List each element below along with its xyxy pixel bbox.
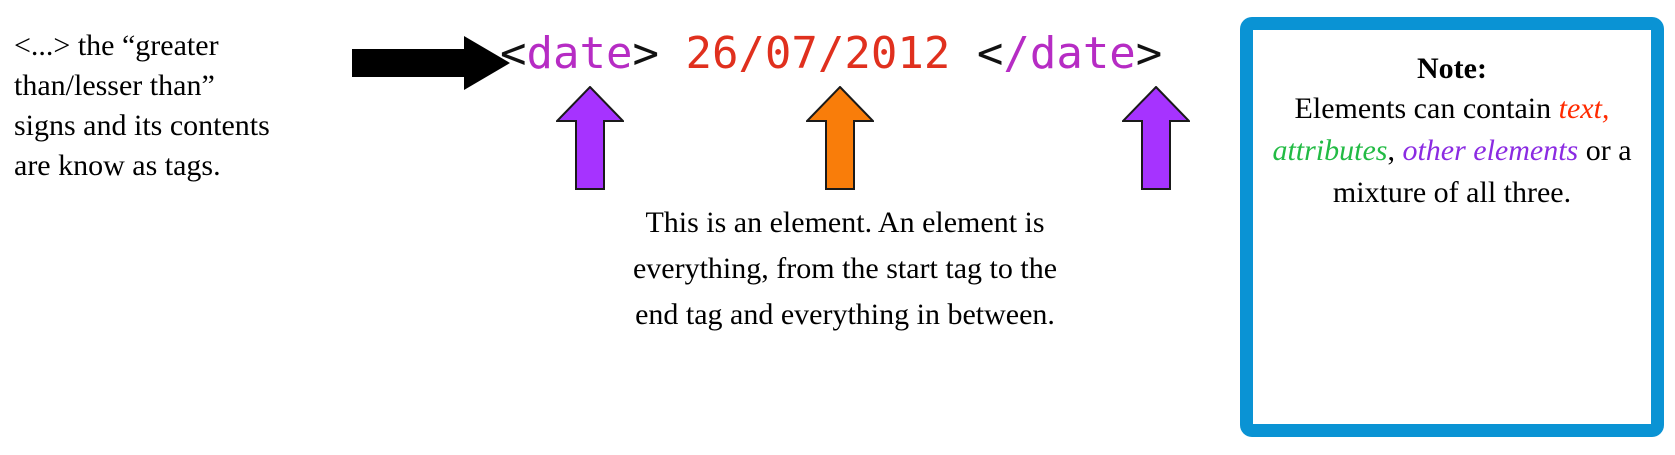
right-arrow-svg — [352, 36, 510, 90]
open-tag-name: date — [527, 28, 633, 79]
element-value: 26/07/2012 — [685, 28, 950, 79]
up-arrow-icon — [556, 86, 624, 190]
note-body: Elements can contain text, attributes, o… — [1257, 88, 1647, 214]
note-elements-keyword: other elements — [1402, 134, 1578, 167]
value-arrow — [806, 86, 874, 190]
open-bracket-left: < — [500, 28, 527, 79]
note-text-keyword: text, — [1559, 92, 1610, 125]
note-attributes-keyword: attributes — [1272, 134, 1387, 167]
close-bracket-right: > — [1136, 28, 1163, 79]
start-tag-arrow — [556, 86, 624, 190]
note-inner-panel: Note: Elements can contain text, attribu… — [1253, 30, 1651, 424]
slide-canvas: <...> the “greater than/lesser than” sig… — [0, 0, 1675, 455]
close-bracket-left: < — [950, 28, 1003, 79]
element-caption-text: This is an element. An element is everyt… — [505, 200, 1185, 338]
note-title: Note: — [1417, 50, 1487, 88]
up-arrow-icon — [806, 86, 874, 190]
right-arrow-icon — [352, 36, 510, 90]
xml-element-code: <date> 26/07/2012 </date> — [500, 26, 1190, 82]
open-bracket-right: > — [632, 28, 685, 79]
note-prefix: Elements can contain — [1295, 92, 1559, 125]
close-tag-name: /date — [1003, 28, 1135, 79]
note-comma: , — [1387, 134, 1402, 167]
tags-explanation-text: <...> the “greater than/lesser than” sig… — [14, 26, 344, 186]
end-tag-arrow — [1122, 86, 1190, 190]
note-callout-box: Note: Elements can contain text, attribu… — [1240, 17, 1664, 437]
up-arrow-icon — [1122, 86, 1190, 190]
